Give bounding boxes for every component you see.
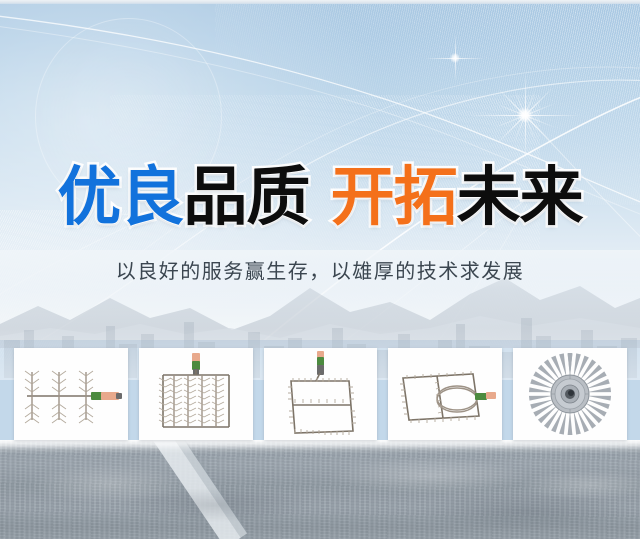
product-card-1[interactable] [14,348,128,440]
headline-part-blue: 优良 [57,161,183,235]
top-edge-strip [0,0,640,4]
wire-comb-rake-icon [19,354,123,434]
headline-part-dark2: 未来 [457,161,583,235]
product-card-5[interactable] [513,348,627,440]
product-card-3[interactable] [264,348,378,440]
radial-spike-wheel-icon [524,351,616,437]
product-card-2[interactable] [139,348,253,440]
headline-spacer [309,161,330,235]
page-title: 优良品质 开拓未来 [0,163,640,233]
wire-ring-frame-icon [393,358,497,430]
page-subtitle: 以良好的服务赢生存，以雄厚的技术求发展 [0,256,640,286]
wire-brush-panel-icon [151,353,241,435]
asphalt-ground-icon [0,440,640,539]
promo-banner: 优良品质 开拓未来 以良好的服务赢生存，以雄厚的技术求发展 [0,0,640,539]
headline-part-orange: 开拓 [331,161,457,235]
product-card-4[interactable] [388,348,502,440]
headline-part-dark1: 品质 [183,161,309,235]
wire-frame-paddle-icon [277,351,363,437]
product-card-strip [14,348,627,440]
